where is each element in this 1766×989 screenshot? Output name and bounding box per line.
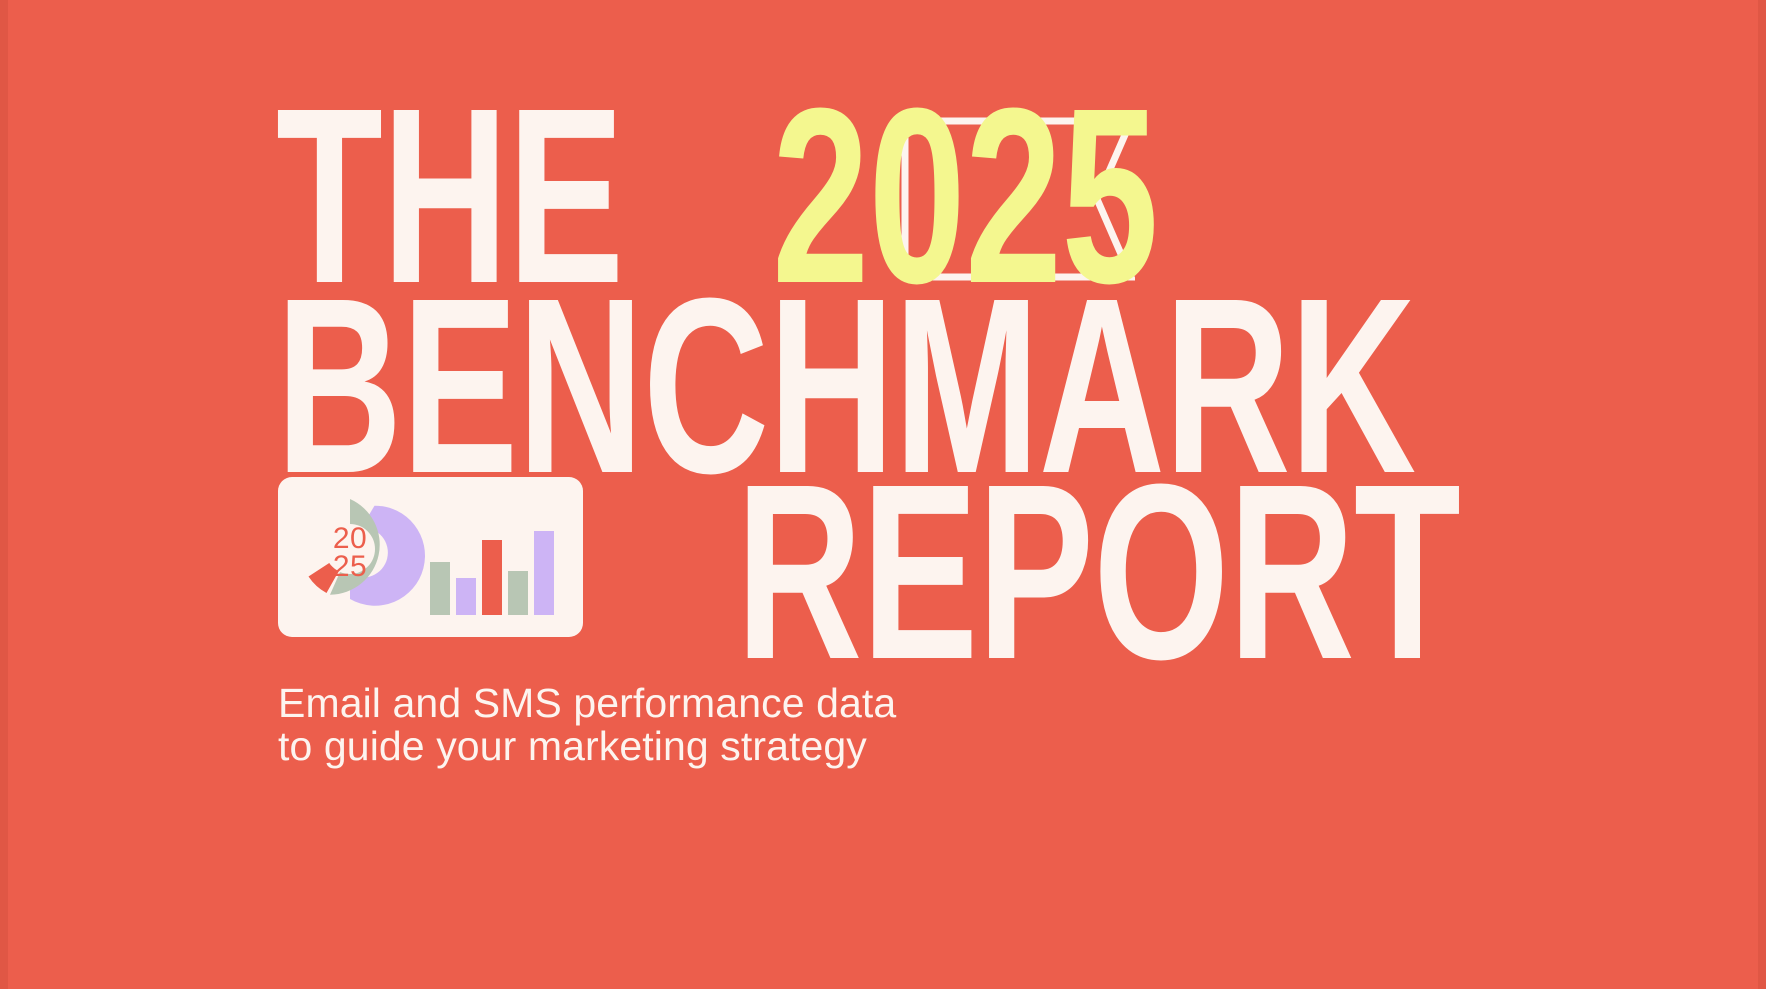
- right-edge-strip: [1758, 0, 1766, 989]
- headline-block: THE 2025 BENCHMARK REPORT: [276, 96, 1476, 668]
- headline-line-3: REPORT: [276, 472, 1476, 668]
- report-cover: 20 25 THE 2025 BENCHMARK REPORT Ema: [0, 0, 1766, 989]
- headline-word-report: REPORT: [736, 472, 1460, 672]
- subtitle-line-2: to guide your marketing strategy: [278, 725, 896, 768]
- left-edge-strip: [0, 0, 8, 989]
- subtitle-line-1: Email and SMS performance data: [278, 682, 896, 725]
- subtitle-block: Email and SMS performance data to guide …: [278, 682, 896, 768]
